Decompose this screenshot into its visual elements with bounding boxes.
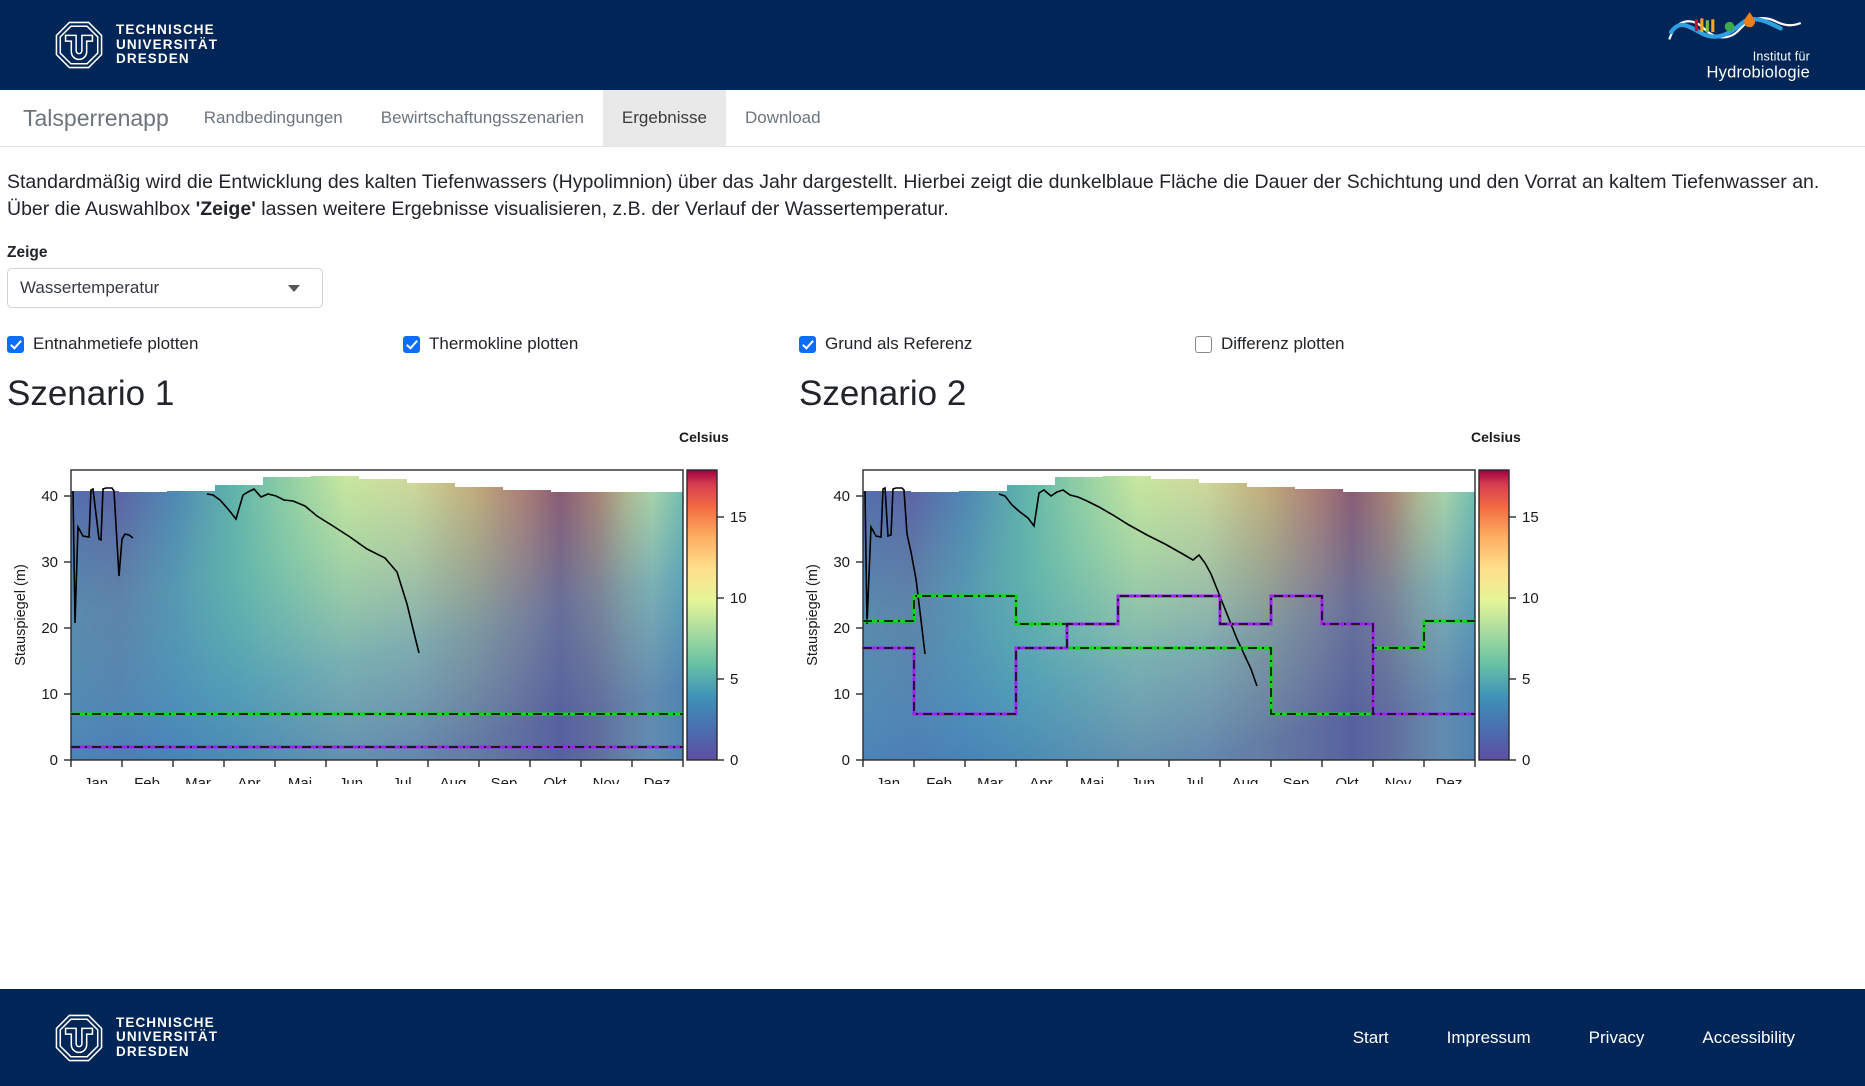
svg-text:0: 0 (50, 752, 58, 769)
footer-tud-line-3: DRESDEN (116, 1045, 218, 1060)
tud-line-3: DRESDEN (116, 52, 218, 67)
footer-link-privacy[interactable]: Privacy (1589, 1028, 1645, 1048)
svg-text:Okt: Okt (1335, 775, 1359, 784)
svg-text:Jul: Jul (392, 775, 411, 784)
zeige-select-value: Wassertemperatur (20, 278, 159, 298)
scenario-2-x-axis: JanFeb MarApr MaiJun JulAug SepOkt NovDe… (863, 760, 1475, 784)
checkbox-grund-als-referenz[interactable]: Grund als Referenz (799, 334, 1195, 354)
checkbox-thermokline-label: Thermokline plotten (429, 334, 578, 354)
nav-item-randbedingungen[interactable]: Randbedingungen (185, 90, 362, 146)
zeige-label: Zeige (7, 244, 1858, 262)
footer-tud-logo[interactable]: TECHNISCHE UNIVERSITÄT DRESDEN (55, 1014, 218, 1062)
main-content: Standardmäßig wird die Entwicklung des k… (0, 169, 1865, 784)
scenario-1-ylabel: Stauspiegel (m) (13, 564, 29, 666)
svg-text:Jul: Jul (1184, 775, 1203, 784)
footer-link-start[interactable]: Start (1353, 1028, 1389, 1048)
svg-text:Apr: Apr (1029, 775, 1052, 784)
svg-text:Mar: Mar (185, 775, 211, 784)
scenario-2-figure: Celsius Stauspiegel (m) (799, 424, 1590, 784)
svg-text:10: 10 (730, 590, 747, 607)
scenario-2-y-axis: 0 10 20 30 40 (833, 488, 863, 769)
page-header: TECHNISCHE UNIVERSITÄT DRESDEN Institut … (0, 0, 1865, 90)
svg-text:Sep: Sep (491, 775, 518, 784)
intro-text-part2: lassen weitere Ergebnisse visualisieren,… (256, 198, 949, 220)
svg-text:15: 15 (730, 509, 747, 526)
svg-text:Jan: Jan (876, 775, 900, 784)
scenario-2-colorbar: 05 1015 (1479, 470, 1539, 769)
scenario-2-plot: Celsius Stauspiegel (m) (799, 424, 1590, 784)
tud-logo-text: TECHNISCHE UNIVERSITÄT DRESDEN (116, 23, 218, 67)
scenario-1-x-axis: JanFeb MarApr MaiJun JulAug SepOkt NovDe… (71, 760, 683, 784)
footer-tud-octagon-icon (55, 1014, 103, 1062)
checkbox-grund-als-referenz-label: Grund als Referenz (825, 334, 972, 354)
checkbox-entnahmetiefe[interactable]: Entnahmetiefe plotten (7, 334, 403, 354)
nav-item-bewirtschaftungsszenarien[interactable]: Bewirtschaftungsszenarien (362, 90, 603, 146)
footer-tud-logo-text: TECHNISCHE UNIVERSITÄT DRESDEN (116, 1016, 218, 1060)
svg-text:Mai: Mai (1080, 775, 1104, 784)
plot-options-row: Entnahmetiefe plotten Thermokline plotte… (7, 334, 1858, 354)
chevron-down-icon (288, 285, 300, 292)
page-footer: TECHNISCHE UNIVERSITÄT DRESDEN Start Imp… (0, 989, 1865, 1086)
tud-line-2: UNIVERSITÄT (116, 38, 218, 53)
svg-text:10: 10 (1522, 590, 1539, 607)
app-brand[interactable]: Talsperrenapp (7, 90, 185, 146)
checkbox-grund-als-referenz-box[interactable] (799, 336, 816, 353)
main-navigation: Talsperrenapp Randbedingungen Bewirtscha… (0, 90, 1865, 147)
tud-octagon-icon (55, 21, 103, 69)
svg-text:30: 30 (833, 554, 850, 571)
checkbox-entnahmetiefe-box[interactable] (7, 336, 24, 353)
svg-text:Dez: Dez (644, 775, 671, 784)
svg-text:Nov: Nov (1385, 775, 1412, 784)
svg-text:Aug: Aug (440, 775, 467, 784)
scenario-1-heatmap (71, 470, 683, 760)
hydrobiologie-logo[interactable]: Institut für Hydrobiologie (1650, 8, 1810, 81)
scenario-2-column: Szenario 2 (799, 374, 1590, 784)
svg-text:40: 40 (41, 488, 58, 505)
svg-text:0: 0 (842, 752, 850, 769)
hydro-line-1: Institut für (1650, 50, 1810, 63)
svg-text:Mai: Mai (288, 775, 312, 784)
svg-text:Feb: Feb (926, 775, 952, 784)
footer-link-accessibility[interactable]: Accessibility (1702, 1028, 1795, 1048)
svg-text:5: 5 (730, 671, 738, 688)
svg-text:20: 20 (41, 620, 58, 637)
dna-helix-icon (1660, 8, 1810, 50)
tud-line-1: TECHNISCHE (116, 23, 218, 38)
svg-text:Aug: Aug (1232, 775, 1259, 784)
footer-link-impressum[interactable]: Impressum (1447, 1028, 1531, 1048)
svg-text:Dez: Dez (1436, 775, 1463, 784)
svg-text:30: 30 (41, 554, 58, 571)
svg-text:40: 40 (833, 488, 850, 505)
scenario-1-colorbar: 05 1015 (687, 470, 747, 769)
intro-emphasis: 'Zeige' (196, 198, 256, 220)
scenario-2-colorbar-title: Celsius (1471, 429, 1521, 445)
svg-text:Jun: Jun (339, 775, 363, 784)
svg-text:10: 10 (833, 686, 850, 703)
scenario-row: Szenario 1 (7, 374, 1858, 784)
scenario-1-column: Szenario 1 (7, 374, 798, 784)
svg-text:Apr: Apr (237, 775, 260, 784)
footer-links: Start Impressum Privacy Accessibility (1353, 1028, 1795, 1048)
svg-text:5: 5 (1522, 671, 1530, 688)
checkbox-thermokline[interactable]: Thermokline plotten (403, 334, 799, 354)
scenario-1-y-axis: 0 10 20 30 40 (41, 488, 71, 769)
svg-text:Okt: Okt (543, 775, 567, 784)
hydro-line-2: Hydrobiologie (1650, 63, 1810, 81)
scenario-1-title: Szenario 1 (7, 374, 798, 414)
svg-text:Sep: Sep (1283, 775, 1310, 784)
checkbox-differenz-label: Differenz plotten (1221, 334, 1344, 354)
zeige-select[interactable]: Wassertemperatur (7, 268, 323, 308)
svg-text:20: 20 (833, 620, 850, 637)
scenario-2-ylabel: Stauspiegel (m) (805, 564, 821, 666)
svg-text:Mar: Mar (977, 775, 1003, 784)
scenario-2-title: Szenario 2 (799, 374, 1590, 414)
checkbox-thermokline-box[interactable] (403, 336, 420, 353)
svg-text:0: 0 (730, 752, 738, 769)
scenario-1-colorbar-title: Celsius (679, 429, 729, 445)
intro-paragraph: Standardmäßig wird die Entwicklung des k… (7, 169, 1858, 222)
svg-text:0: 0 (1522, 752, 1530, 769)
scenario-2-heatmap (863, 470, 1475, 760)
nav-item-download[interactable]: Download (726, 90, 840, 146)
checkbox-differenz-box[interactable] (1195, 336, 1212, 353)
scenario-1-figure: Celsius Stauspiegel (m) (7, 424, 798, 784)
tud-logo[interactable]: TECHNISCHE UNIVERSITÄT DRESDEN (55, 21, 218, 69)
svg-text:Nov: Nov (593, 775, 620, 784)
scenario-1-plot: Celsius Stauspiegel (m) (7, 424, 798, 784)
checkbox-entnahmetiefe-label: Entnahmetiefe plotten (33, 334, 198, 354)
svg-text:10: 10 (41, 686, 58, 703)
footer-tud-line-2: UNIVERSITÄT (116, 1030, 218, 1045)
svg-text:Jun: Jun (1131, 775, 1155, 784)
svg-text:Feb: Feb (134, 775, 160, 784)
svg-text:15: 15 (1522, 509, 1539, 526)
svg-text:Jan: Jan (84, 775, 108, 784)
nav-item-ergebnisse[interactable]: Ergebnisse (603, 90, 726, 146)
checkbox-differenz[interactable]: Differenz plotten (1195, 334, 1591, 354)
footer-tud-line-1: TECHNISCHE (116, 1016, 218, 1031)
